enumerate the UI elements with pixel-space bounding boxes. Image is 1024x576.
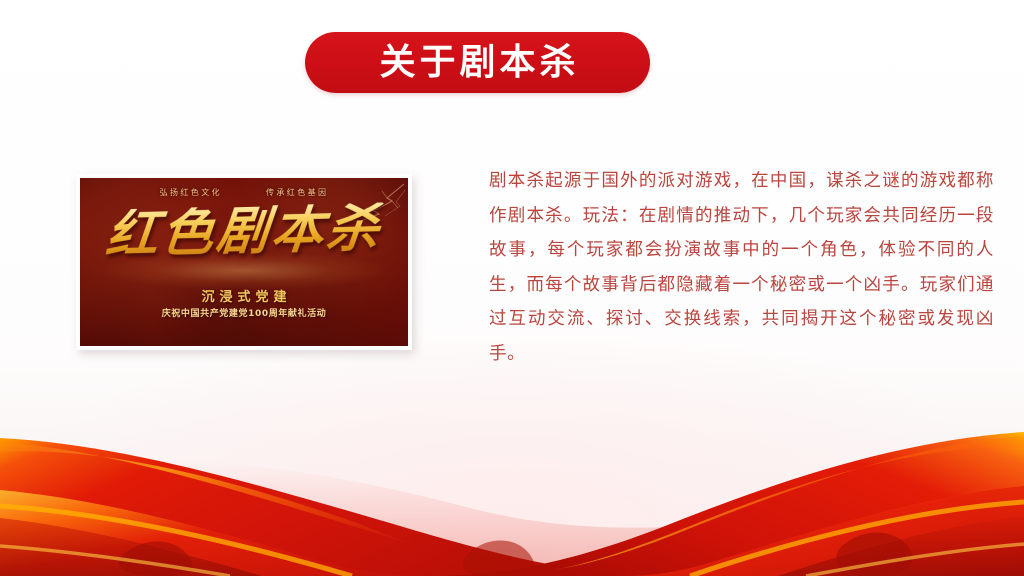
body-paragraph: 剧本杀起源于国外的派对游戏，在中国，谋杀之谜的游戏都称作剧本杀。玩法：在剧情的推…: [489, 164, 994, 371]
poster-image: 弘扬红色文化 传承红色基因 红色剧本杀 沉浸式党建 庆祝中国共产党建党100周年…: [80, 178, 408, 346]
page-title: 关于剧本杀: [375, 45, 579, 81]
poster-card: 弘扬红色文化 传承红色基因 红色剧本杀 沉浸式党建 庆祝中国共产党建党100周年…: [76, 174, 412, 350]
poster-subtitle: 沉浸式党建: [80, 286, 408, 305]
poster-caption: 庆祝中国共产党建党100周年献礼活动: [80, 306, 408, 319]
poster-tagline-right: 传承红色基因: [266, 187, 328, 198]
slide-canvas: 关于剧本杀 弘扬红色文化 传承红色基因 红色剧本杀 沉浸式党建 庆祝中国共产党建…: [0, 0, 1024, 576]
red-silk-ribbon-decoration: [0, 386, 1024, 576]
poster-tagline-row: 弘扬红色文化 传承红色基因: [80, 187, 408, 198]
poster-tagline-left: 弘扬红色文化: [160, 187, 222, 198]
poster-headline: 红色剧本杀: [80, 202, 408, 263]
title-banner: 关于剧本杀: [305, 32, 650, 93]
